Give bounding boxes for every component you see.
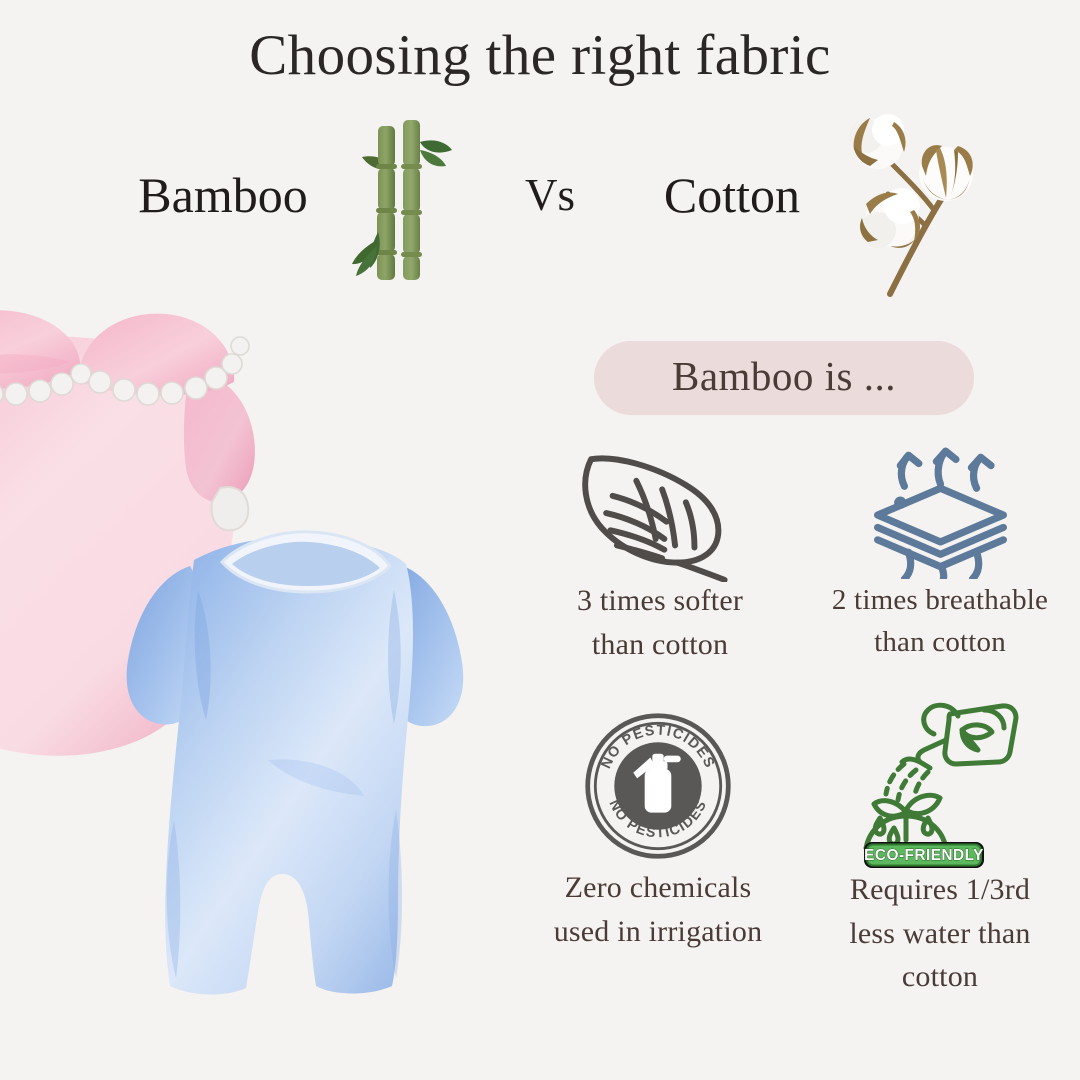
blue-romper-illustration [98,520,498,1040]
label-bamboo: Bamboo [108,150,338,240]
bamboo-is-badge-label: Bamboo is ... [672,356,896,401]
label-cotton: Cotton [632,150,832,240]
feather-icon [510,444,810,579]
page-title: Choosing the right fabric [0,26,1080,86]
feature-softness: 3 times softer than cotton [510,444,810,666]
feature-no-pesticides: NO PESTICIDES NO PESTICIDES Zero chemica… [508,706,808,953]
cotton-branch-icon [830,98,1050,318]
feature-no-pesticides-caption: Zero chemicals used in irrigation [508,866,808,953]
caption-line: less water than [790,912,1080,956]
feature-water-use-caption: Requires 1/3rd less water than cotton [790,868,1080,999]
infographic-canvas: Choosing the right fabric Bamboo Vs Cott… [0,0,1080,1080]
caption-line: cotton [790,955,1080,999]
feature-breathability: 2 times breathable than cotton [790,444,1080,663]
caption-line: used in irrigation [508,910,808,954]
no-pesticides-badge-icon: NO PESTICIDES NO PESTICIDES [508,706,808,866]
caption-line: 2 times breathable [790,579,1080,621]
breathable-fabric-layers-icon [790,444,1080,579]
label-vs: Vs [505,150,595,240]
feature-water-use: ECO-FRIENDLY Requires 1/3rd less water t… [790,700,1080,999]
bamboo-is-badge: Bamboo is ... [594,341,974,415]
caption-line: Zero chemicals [508,866,808,910]
caption-line: than cotton [510,623,810,667]
caption-line: Requires 1/3rd [790,868,1080,912]
caption-line: 3 times softer [510,579,810,623]
svg-text:ECO-FRIENDLY: ECO-FRIENDLY [864,847,984,864]
bamboo-stalks-icon [348,112,468,282]
caption-line: than cotton [790,621,1080,663]
feature-breathability-caption: 2 times breathable than cotton [790,579,1080,663]
watering-can-sprout-icon: ECO-FRIENDLY [790,700,1080,868]
feature-softness-caption: 3 times softer than cotton [510,579,810,666]
